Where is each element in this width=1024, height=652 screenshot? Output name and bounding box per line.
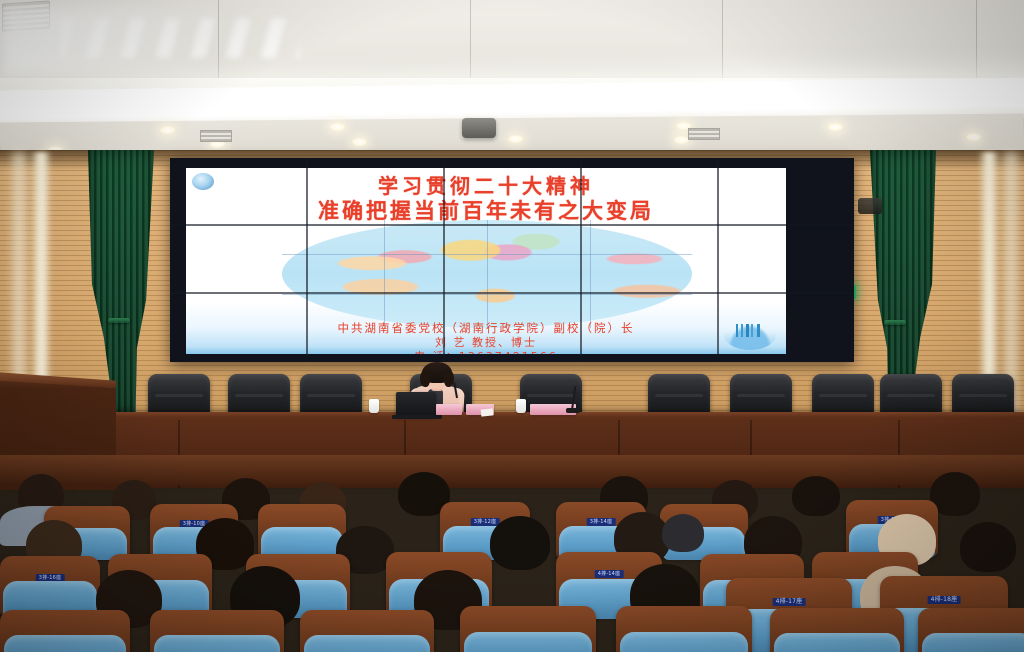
downlight-icon — [160, 126, 175, 134]
ceiling-seam — [722, 0, 723, 84]
ceiling-speaker-icon — [462, 118, 496, 138]
curtain-tieback-left — [108, 318, 130, 323]
seat-cushion — [620, 632, 748, 652]
name-card — [436, 404, 462, 415]
audience-head — [490, 516, 550, 570]
seat-cushion — [922, 633, 1024, 652]
presentation-slide: 学习贯彻二十大精神 准确把握当前百年未有之大变局 中共湖南省委党校（湖南行政学院… — [186, 168, 786, 354]
led-video-wall[interactable]: 学习贯彻二十大精神 准确把握当前百年未有之大变局 中共湖南省委党校（湖南行政学院… — [170, 158, 854, 362]
auditorium-seat[interactable] — [0, 610, 130, 652]
downlight-icon — [674, 136, 689, 144]
seat-number-tag: 4排-17座 — [773, 598, 806, 606]
slide-title: 学习贯彻二十大精神 准确把握当前百年未有之大变局 — [186, 174, 786, 224]
laptop-base — [392, 415, 442, 419]
seat-number-tag: 4排-18座 — [928, 596, 961, 604]
audience-head-cap — [662, 514, 704, 552]
water-cup-icon — [369, 399, 379, 413]
auditorium-seat[interactable] — [300, 610, 434, 652]
seat-number-tag: 3排-14座 — [587, 518, 616, 526]
seat-number-tag: 3排-12座 — [471, 518, 500, 526]
downlight-icon — [508, 135, 523, 143]
videowall-bezel — [580, 158, 582, 362]
downlight-icon — [352, 138, 367, 146]
auditorium-seat[interactable] — [918, 608, 1024, 652]
seat-cushion — [154, 635, 280, 652]
auditorium-seat[interactable] — [616, 606, 752, 652]
wall-bracket-icon — [858, 198, 882, 214]
auditorium-seat[interactable] — [460, 606, 596, 652]
speaker-hair-left — [420, 370, 430, 387]
auditorium-seat[interactable]: 3排-16座 — [0, 556, 100, 616]
map-graticule — [487, 220, 488, 328]
auditorium-seat[interactable] — [150, 610, 284, 652]
downlight-icon — [330, 123, 345, 131]
audience-area: 3排-10座 3排-12座 3排-14座 3排-16座 3排-16座 — [0, 470, 1024, 652]
auditorium-seat[interactable] — [258, 504, 346, 558]
curtain-tieback-right — [884, 320, 906, 325]
laptop-icon[interactable] — [396, 392, 436, 417]
water-cup-icon — [516, 399, 526, 413]
seat-cushion — [774, 633, 900, 652]
videowall-bezel — [170, 224, 854, 226]
slide-title-line1: 学习贯彻二十大精神 — [378, 174, 594, 198]
videowall-bezel — [170, 292, 854, 294]
lecture-hall-screenshot: 学习贯彻二十大精神 准确把握当前百年未有之大变局 中共湖南省委党校（湖南行政学院… — [0, 0, 1024, 652]
ceiling-vent-grille — [688, 128, 720, 140]
audience-head — [792, 476, 840, 516]
map-graticule — [590, 220, 591, 328]
auditorium-seat[interactable] — [770, 608, 904, 652]
seat-cushion — [304, 635, 430, 652]
seat-cushion — [4, 635, 126, 652]
ceiling-vent-grille — [200, 130, 232, 142]
ceiling-window-reflection — [60, 18, 300, 58]
videowall-bezel — [306, 158, 308, 362]
papers-on-table — [481, 408, 494, 416]
map-graticule — [384, 220, 385, 328]
ceiling-seam — [976, 0, 977, 84]
seat-cushion — [464, 632, 592, 652]
downlight-icon — [828, 123, 843, 131]
slide-credit-line3: 电 话：13637421566 — [186, 348, 786, 354]
seat-number-tag: 4排-14座 — [595, 570, 624, 578]
videowall-bezel — [443, 158, 445, 362]
ceiling-seam — [218, 0, 219, 84]
world-map-globe-icon — [282, 220, 692, 328]
city-skyline-water-graphic-icon — [724, 320, 776, 350]
microphone-base — [566, 408, 580, 413]
ceiling-seam — [470, 0, 471, 84]
videowall-bezel — [717, 158, 719, 362]
skyline-buildings — [736, 324, 764, 337]
downlight-icon — [966, 133, 981, 141]
speaker-hair-right — [444, 370, 454, 387]
audience-head — [960, 522, 1016, 572]
